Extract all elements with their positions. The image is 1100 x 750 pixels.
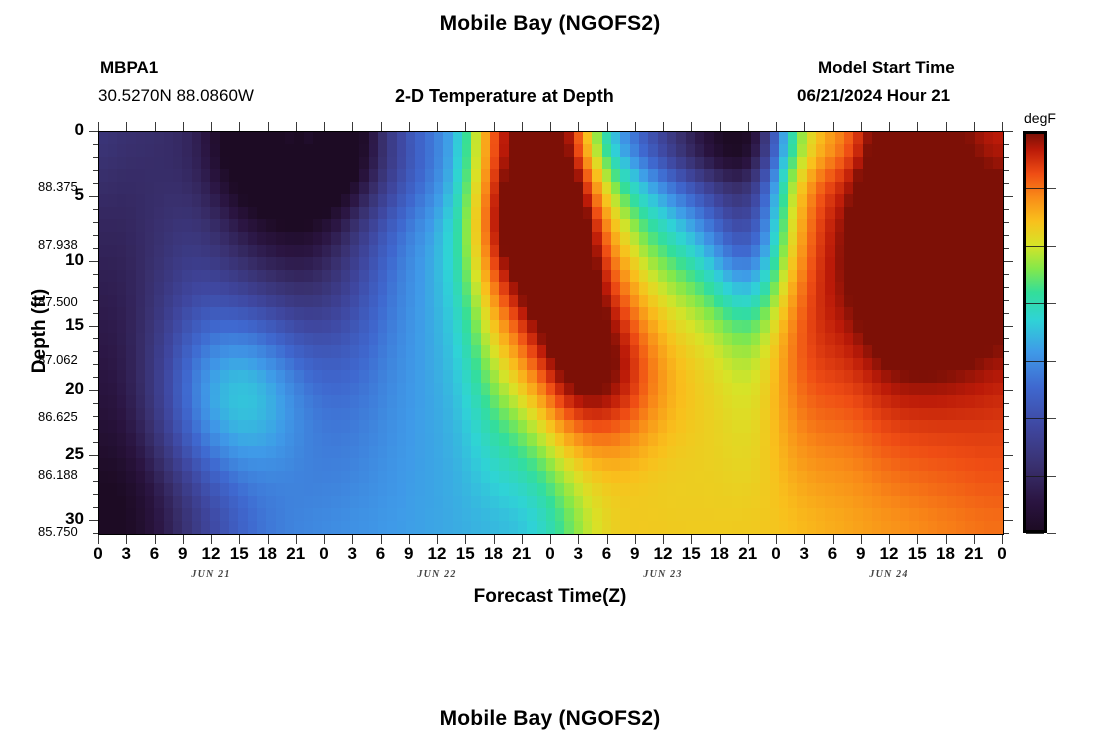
colorbar-tick-label: 88.375 <box>38 179 78 194</box>
colorbar-label-layer: 85.75086.18886.62587.06287.50087.93888.3… <box>0 0 1100 750</box>
colorbar-tick-label: 85.750 <box>38 524 78 539</box>
colorbar-tick-label: 87.062 <box>38 352 78 367</box>
colorbar-tick-label: 86.188 <box>38 467 78 482</box>
colorbar-tick-label: 87.938 <box>38 237 78 252</box>
colorbar-tick-label: 87.500 <box>38 294 78 309</box>
colorbar-tick-label: 86.625 <box>38 409 78 424</box>
bottom-title: Mobile Bay (NGOFS2) <box>0 707 1100 731</box>
